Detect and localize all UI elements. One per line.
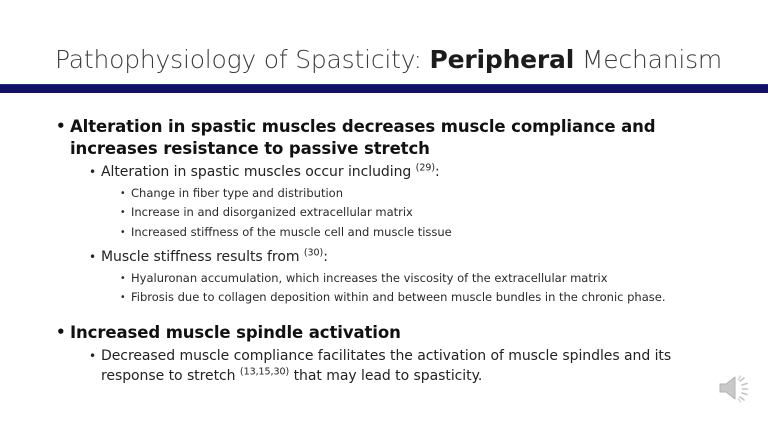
bullet-level1-section2: • Increased muscle spindle activation (0, 322, 768, 344)
bullet-level1-section2-text: Increased muscle spindle activation (70, 322, 734, 344)
bullet-level1-section1-text: Alteration in spastic muscles decreases … (70, 116, 734, 159)
bullet-level2-alteration-lead: Alteration in spastic muscles occur incl… (101, 164, 416, 180)
bullet-dot-icon: • (120, 204, 126, 222)
bullet-level3-item: • Change in fiber type and distribution (0, 185, 768, 203)
bullet-level2-alteration: • Alteration in spastic muscles occur in… (0, 163, 768, 183)
slide-body: • Alteration in spastic muscles decrease… (0, 110, 768, 386)
bullet-level3-item: • Increased stiffness of the muscle cell… (0, 224, 768, 242)
speaker-audio-icon[interactable] (714, 370, 758, 406)
bullet-level3-item-text: Increase in and disorganized extracellul… (131, 204, 728, 222)
bullet-level2-spindle-text: Decreased muscle compliance facilitates … (101, 347, 724, 386)
bullet-level2-spindle: • Decreased muscle compliance facilitate… (0, 347, 768, 386)
page-title-part2: Mechanism (574, 45, 722, 74)
spacer (0, 241, 768, 244)
bullet-dot-icon: • (120, 224, 126, 242)
citation-29: (29) (416, 162, 435, 173)
bullet-dot-icon: • (89, 347, 96, 367)
page-title-emphasis: Peripheral (430, 45, 575, 74)
title-divider-bar (0, 84, 768, 93)
bullet-level2-stiffness-tail: : (323, 249, 328, 265)
bullet-level3-item-text: Hyaluronan accumulation, which increases… (131, 270, 728, 288)
bullet-level2-stiffness-lead: Muscle stiffness results from (101, 249, 304, 265)
bullet-dot-icon: • (56, 322, 66, 344)
spacer (0, 307, 768, 316)
citation-30: (30) (304, 247, 323, 258)
bullet-dot-icon: • (89, 248, 96, 268)
bullet-level2-alteration-tail: : (435, 164, 440, 180)
bullet-dot-icon: • (56, 116, 66, 138)
bullet-dot-icon: • (120, 185, 126, 203)
page-title: Pathophysiology of Spasticity: Periphera… (55, 43, 728, 77)
bullet-level2-alteration-text: Alteration in spastic muscles occur incl… (101, 163, 724, 183)
bullet-dot-icon: • (120, 270, 126, 288)
bullet-level3-item: • Increase in and disorganized extracell… (0, 204, 768, 222)
bullet-level3-item-text: Fibrosis due to collagen deposition with… (131, 289, 728, 307)
bullet-level3-item: • Hyaluronan accumulation, which increas… (0, 270, 768, 288)
bullet-level3-item-text: Change in fiber type and distribution (131, 185, 728, 203)
bullet-level2-stiffness-text: Muscle stiffness results from (30): (101, 248, 724, 268)
bullet-dot-icon: • (89, 163, 96, 183)
slide-canvas: Pathophysiology of Spasticity: Periphera… (0, 0, 768, 432)
bullet-level3-item-text: Increased stiffness of the muscle cell a… (131, 224, 728, 242)
citation-13-15-30: (13,15,30) (240, 366, 289, 377)
bullet-level3-item: • Fibrosis due to collagen deposition wi… (0, 289, 768, 307)
bullet-level1-section1: • Alteration in spastic muscles decrease… (0, 116, 768, 159)
page-title-part1: Pathophysiology of Spasticity: (55, 45, 430, 74)
bullet-level2-spindle-tail: that may lead to spasticity. (289, 368, 482, 384)
bullet-dot-icon: • (120, 289, 126, 307)
bullet-level2-stiffness: • Muscle stiffness results from (30): (0, 248, 768, 268)
